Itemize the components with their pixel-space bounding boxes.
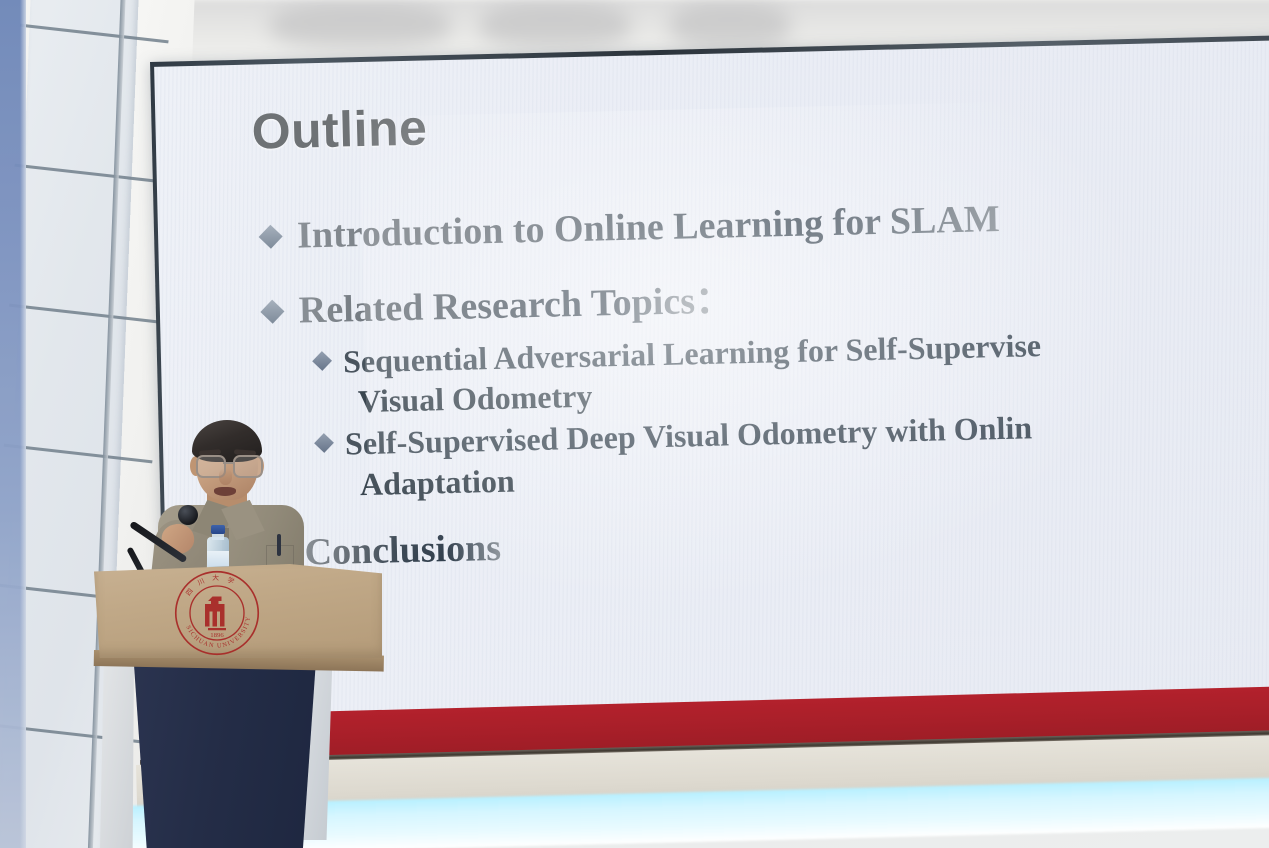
diamond-bullet-icon xyxy=(260,299,284,323)
microphone-icon xyxy=(178,505,198,525)
emblem-year: 1896 xyxy=(210,632,224,639)
podium-left-panel xyxy=(100,650,134,848)
diamond-bullet-icon xyxy=(312,351,332,371)
water-bottle-cap xyxy=(211,525,225,534)
diamond-bullet-icon xyxy=(259,225,283,249)
svg-text:四 川 大 学: 四 川 大 学 xyxy=(184,573,238,597)
presentation-photo-scene: Outline Introduction to Online Learning … xyxy=(0,0,1269,848)
sichuan-university-emblem-icon: SICHUAN UNIVERSITY 四 川 大 学 1896 xyxy=(163,568,271,658)
slide-title: Outline xyxy=(251,98,428,160)
speaker-nose xyxy=(219,468,232,485)
pen-icon xyxy=(277,534,281,556)
podium-body xyxy=(128,660,316,848)
bullet-text: Conclusions xyxy=(304,526,501,575)
slide-bullet-list: Introduction to Online Learning for SLAM… xyxy=(262,189,1269,606)
speaker-mouth xyxy=(214,487,236,496)
bullet-item-introduction: Introduction to Online Learning for SLAM xyxy=(262,189,1269,259)
bullet-text: Introduction to Online Learning for SLAM xyxy=(297,197,1001,258)
water-bottle-label xyxy=(207,551,229,566)
bullet-text: Related Research Topics： xyxy=(298,278,733,333)
blue-glass-strip xyxy=(0,0,26,848)
diamond-bullet-icon xyxy=(314,434,334,454)
bullet-item-conclusions: Conclusions xyxy=(269,506,1269,576)
emblem-top-text: 四 川 大 学 xyxy=(184,573,238,597)
